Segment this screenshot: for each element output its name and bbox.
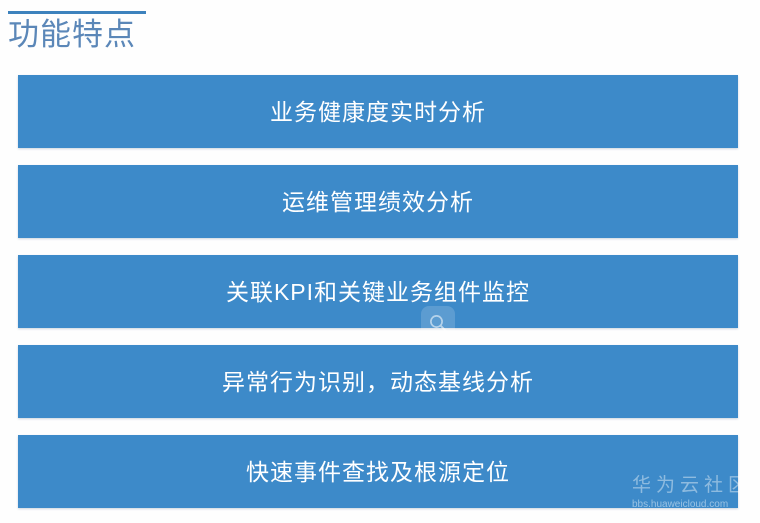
feature-bar-label: 快速事件查找及根源定位	[246, 457, 510, 487]
feature-bar-3[interactable]: 关联KPI和关键业务组件监控	[18, 255, 738, 328]
feature-bar-5[interactable]: 快速事件查找及根源定位	[18, 435, 738, 508]
feature-bar-label: 运维管理绩效分析	[282, 187, 474, 217]
feature-bar-4[interactable]: 异常行为识别，动态基线分析	[18, 345, 738, 418]
feature-bar-1[interactable]: 业务健康度实时分析	[18, 75, 738, 148]
feature-bar-label: 关联KPI和关键业务组件监控	[226, 277, 530, 307]
feature-bar-2[interactable]: 运维管理绩效分析	[18, 165, 738, 238]
title-accent-rule	[8, 11, 146, 14]
feature-list: 业务健康度实时分析 运维管理绩效分析 关联KPI和关键业务组件监控 异常行为识别…	[18, 75, 738, 508]
feature-bar-label: 异常行为识别，动态基线分析	[222, 367, 534, 397]
slide-canvas: 功能特点 业务健康度实时分析 运维管理绩效分析 关联KPI和关键业务组件监控 异…	[0, 0, 760, 523]
page-title: 功能特点	[8, 17, 208, 53]
feature-bar-label: 业务健康度实时分析	[270, 97, 486, 127]
page-title-block: 功能特点	[8, 11, 208, 53]
